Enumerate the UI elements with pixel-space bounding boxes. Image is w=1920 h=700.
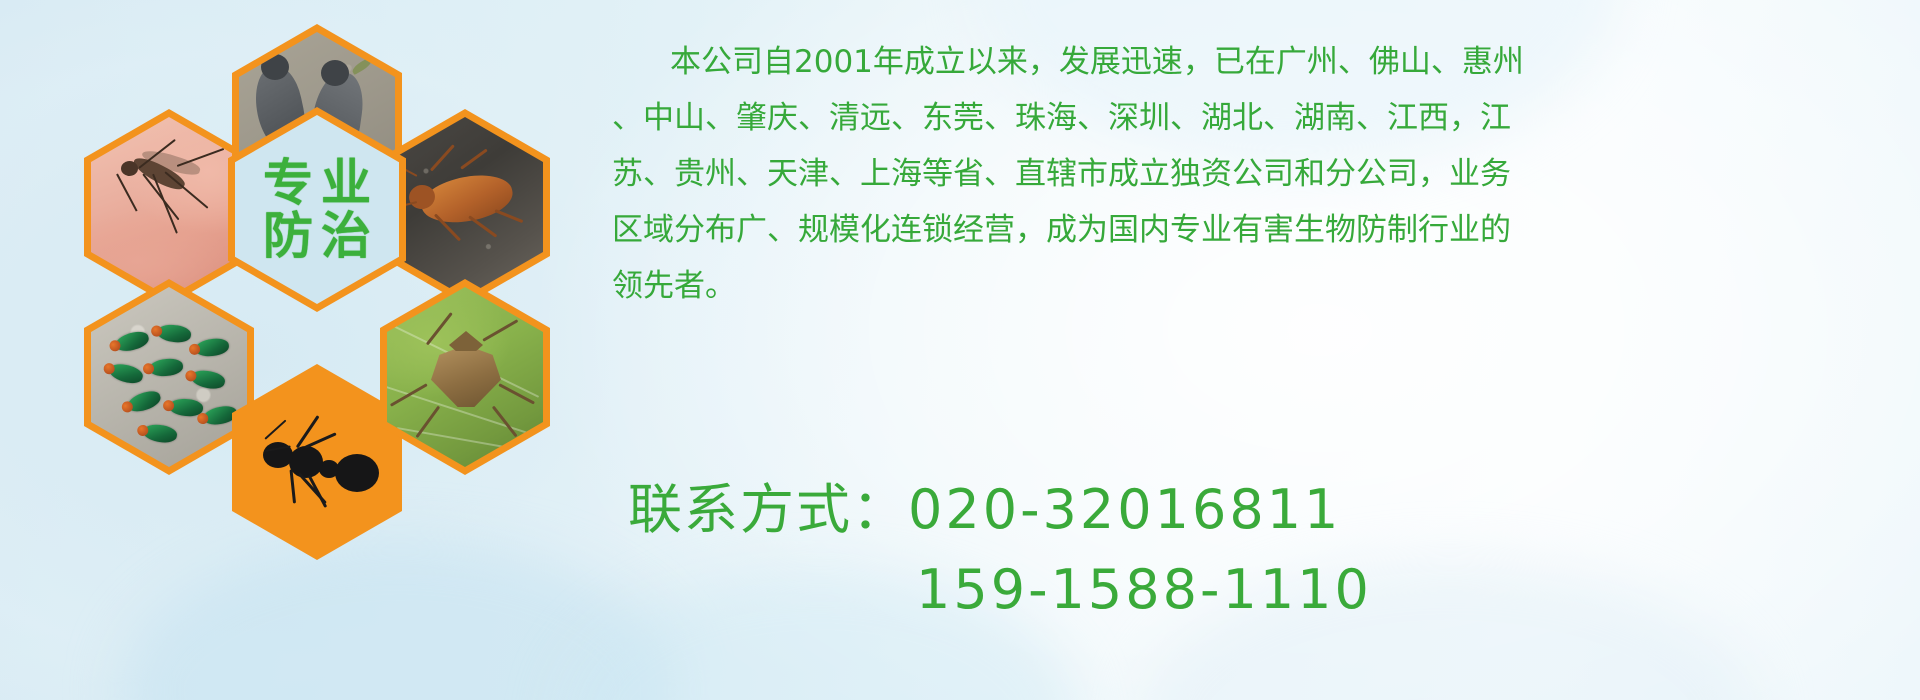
cockroach-icon bbox=[387, 117, 543, 297]
contact-primary-line: 联系方式：020-32016811 bbox=[628, 470, 1908, 550]
honeycomb-logo: 专业 防治 bbox=[84, 4, 604, 584]
hex-photo-ant bbox=[232, 364, 402, 560]
banner-root: 专业 防治 本公司自2001年成立以来，发展迅速，已在广州、佛山、惠州 、中山、… bbox=[0, 0, 1920, 700]
description-line-text: 领先者。 bbox=[612, 268, 736, 304]
description-line: 、中山、肇庆、清远、东莞、珠海、深圳、湖北、湖南、江西，江 bbox=[612, 90, 1882, 146]
phone-primary[interactable]: 020-32016811 bbox=[908, 478, 1341, 541]
description-line-text: 区域分布广、规模化连锁经营，成为国内专业有害生物防制行业的 bbox=[612, 212, 1511, 248]
brand-slogan: 专业 防治 bbox=[255, 157, 379, 263]
description-line-text: 、中山、肇庆、清远、东莞、珠海、深圳、湖北、湖南、江西，江 bbox=[612, 100, 1511, 136]
description-line-text: 苏、贵州、天津、上海等省、直辖市成立独资公司和分公司，业务 bbox=[612, 156, 1511, 192]
brand-slogan-line1: 专业 bbox=[255, 157, 379, 210]
description-line-text: 本公司自2001年成立以来，发展迅速，已在广州、佛山、惠州 bbox=[670, 44, 1524, 80]
description-line: 本公司自2001年成立以来，发展迅速，已在广州、佛山、惠州 bbox=[612, 34, 1882, 90]
ant-icon bbox=[239, 372, 395, 552]
description-line: 区域分布广、规模化连锁经营，成为国内专业有害生物防制行业的 bbox=[612, 202, 1882, 258]
contact-label: 联系方式： bbox=[628, 478, 908, 541]
mosquito-icon bbox=[91, 117, 247, 297]
hex-photo-stink-bug bbox=[380, 279, 550, 475]
phone-secondary[interactable]: 159-1588-1110 bbox=[916, 558, 1372, 621]
company-description: 本公司自2001年成立以来，发展迅速，已在广州、佛山、惠州 、中山、肇庆、清远、… bbox=[612, 34, 1882, 314]
contact-secondary-line: 159-1588-1110 bbox=[628, 550, 1908, 630]
hex-photo-flies bbox=[84, 279, 254, 475]
stink-bug-icon bbox=[387, 287, 543, 467]
description-line: 领先者。 bbox=[612, 258, 1882, 314]
contact-block: 联系方式：020-32016811 159-1588-1110 bbox=[628, 470, 1908, 630]
brand-slogan-line2: 防治 bbox=[255, 210, 379, 263]
flies-icon bbox=[91, 287, 247, 467]
description-line: 苏、贵州、天津、上海等省、直辖市成立独资公司和分公司，业务 bbox=[612, 146, 1882, 202]
